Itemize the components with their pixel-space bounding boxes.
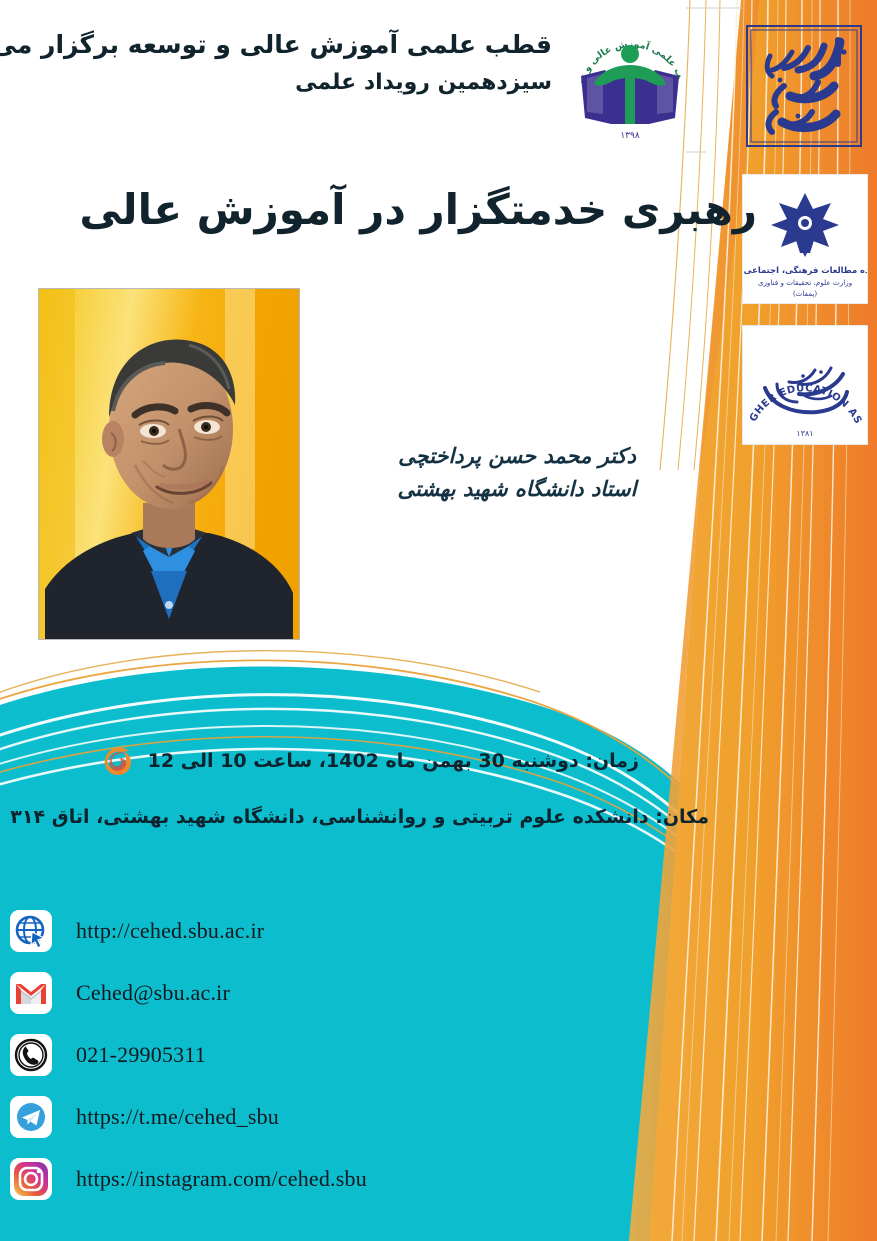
pmfat-line3: (پمفات) xyxy=(793,289,818,298)
phone-number[interactable]: 021-29905311 xyxy=(76,1042,206,1068)
ihea-logo: IRANIAN HIGHER EDUCATION ASSOCIATION ۱۳۸… xyxy=(742,325,868,445)
phone-icon xyxy=(10,1034,52,1076)
page-title: رهبری خدمتگزار در آموزش عالی xyxy=(197,182,757,239)
svg-text:۱۳۹۸: ۱۳۹۸ xyxy=(620,131,640,141)
cehed-logo: قطب علمی آموزش عالی و توسعه ۱۳۹۸ xyxy=(565,14,695,144)
instagram-url[interactable]: https://instagram.com/cehed.sbu xyxy=(76,1166,367,1192)
instagram-icon xyxy=(10,1158,52,1200)
email-address[interactable]: Cehed@sbu.ac.ir xyxy=(76,980,230,1006)
contact-row-instagram[interactable]: https://instagram.com/cehed.sbu xyxy=(10,1148,610,1210)
event-time-row: زمان: دوشنبه 30 بهمن ماه 1402، ساعت 10 ا… xyxy=(100,744,639,778)
pmfat-line1: پژوهشکده مطالعات فرهنگی، اجتماعی و تمدنی xyxy=(743,265,867,276)
speaker-affiliation: استاد دانشگاه شهید بهشتی xyxy=(357,473,677,506)
speaker-block: دکتر محمد حسن پرداختچی استاد دانشگاه شهی… xyxy=(357,440,677,505)
gmail-icon xyxy=(10,972,52,1014)
event-time-text: زمان: دوشنبه 30 بهمن ماه 1402، ساعت 10 ا… xyxy=(148,750,639,772)
header-organizer-line: قطب علمی آموزش عالی و توسعه برگزار می‌کن… xyxy=(52,26,552,64)
contacts-list: http://cehed.sbu.ac.ir Cehed@sbu.ac.ir xyxy=(10,900,610,1210)
header-event-number-line: سیزدهمین رویداد علمی xyxy=(52,66,552,99)
pmfat-logo: پژوهشکده مطالعات فرهنگی، اجتماعی و تمدنی… xyxy=(742,174,868,304)
swirl-bullet-icon xyxy=(100,744,134,778)
event-place-row: مکان: دانشکده علوم تربیتی و روانشناسی، د… xyxy=(0,800,709,834)
sbu-logo xyxy=(740,16,868,156)
event-place-text: مکان: دانشکده علوم تربیتی و روانشناسی، د… xyxy=(10,806,709,828)
ihea-year: ۱۳۸۱ xyxy=(796,429,813,438)
speaker-photo xyxy=(38,288,300,640)
event-poster: قطب علمی آموزش عالی و توسعه برگزار می‌کن… xyxy=(0,0,877,1241)
telegram-url[interactable]: https://t.me/cehed_sbu xyxy=(76,1104,279,1130)
contact-row-email[interactable]: Cehed@sbu.ac.ir xyxy=(10,962,610,1024)
website-icon xyxy=(10,910,52,952)
header-block: قطب علمی آموزش عالی و توسعه برگزار می‌کن… xyxy=(52,26,552,99)
pmfat-line2: وزارت علوم، تحقیقات و فناوری xyxy=(758,278,852,287)
contact-row-phone[interactable]: 021-29905311 xyxy=(10,1024,610,1086)
website-url[interactable]: http://cehed.sbu.ac.ir xyxy=(76,918,264,944)
speaker-name: دکتر محمد حسن پرداختچی xyxy=(357,440,677,473)
telegram-icon xyxy=(10,1096,52,1138)
contact-row-telegram[interactable]: https://t.me/cehed_sbu xyxy=(10,1086,610,1148)
contact-row-website[interactable]: http://cehed.sbu.ac.ir xyxy=(10,900,610,962)
